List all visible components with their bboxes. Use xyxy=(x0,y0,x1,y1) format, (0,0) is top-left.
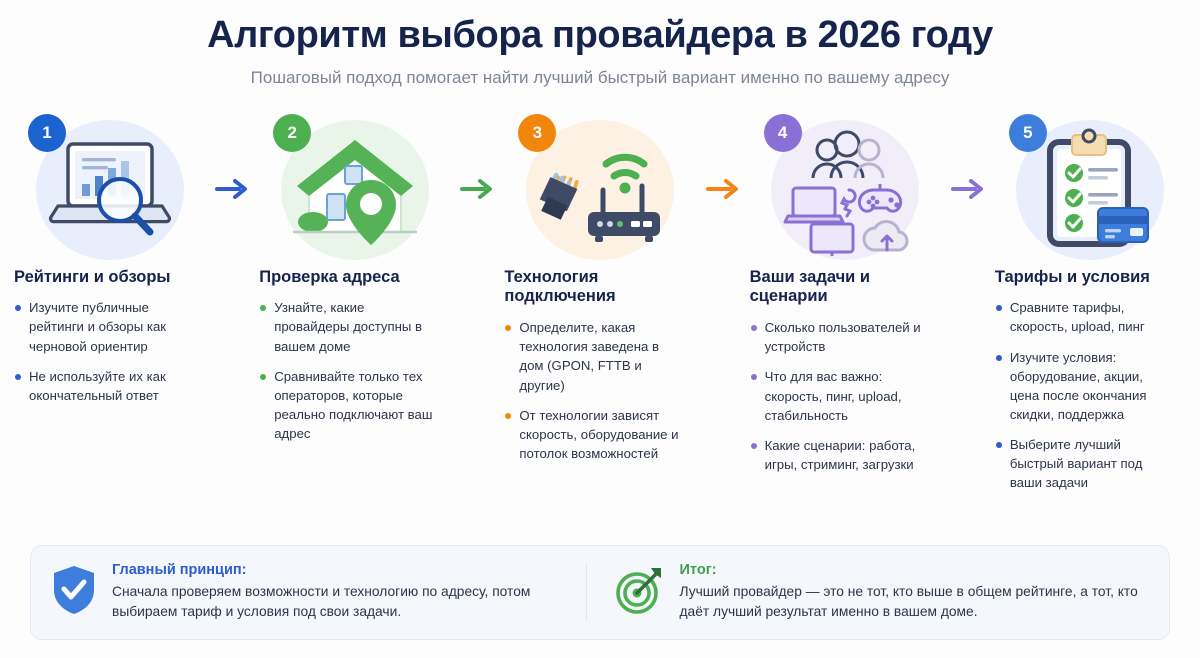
column-spacer xyxy=(941,268,995,504)
step-1-number: 1 xyxy=(42,123,51,143)
steps-row: 1 xyxy=(0,114,1200,264)
arrow-1-to-2 xyxy=(205,114,259,264)
columns-row: Рейтинги и обзоры Изучите публичные рейт… xyxy=(0,268,1200,504)
result-cell: Итог: Лучший провайдер — это не тот, кто… xyxy=(587,562,1150,623)
clipboard-checklist-card-icon xyxy=(1028,128,1152,259)
principle-label: Главный принцип: xyxy=(112,562,586,578)
column-4: Ваши задачи и сценарии Сколько пользоват… xyxy=(750,268,941,504)
step-5-badge: 5 xyxy=(1009,114,1047,152)
laptop-chart-magnifier-icon xyxy=(44,128,176,253)
step-5: 5 xyxy=(995,114,1186,264)
step-3: 3 xyxy=(504,114,695,264)
step-1: 1 xyxy=(14,114,205,264)
summary-panel: Главный принцип: Сначала проверяем возмо… xyxy=(30,545,1170,640)
column-3-bullets: Определите, какая технология заведена в … xyxy=(504,318,681,463)
step-2-number: 2 xyxy=(287,123,296,143)
list-item: Что для вас важно: скорость, пинг, uploa… xyxy=(750,367,927,424)
principle-cell: Главный принцип: Сначала проверяем возмо… xyxy=(51,562,586,623)
column-5-title: Тарифы и условия xyxy=(995,268,1172,288)
column-spacer xyxy=(450,268,504,504)
step-2-badge: 2 xyxy=(273,114,311,152)
list-item: Изучите публичные рейтинги и обзоры как … xyxy=(14,298,191,355)
list-item: Не используйте их как окончательный отве… xyxy=(14,367,191,405)
step-2: 2 xyxy=(259,114,450,264)
arrow-4-to-5 xyxy=(941,114,995,264)
fiber-cable-router-wifi-icon xyxy=(530,128,670,257)
column-1-title: Рейтинги и обзоры xyxy=(14,268,191,288)
list-item: Сравните тарифы, скорость, upload, пинг xyxy=(995,298,1172,336)
list-item: Определите, какая технология заведена в … xyxy=(504,318,681,395)
shield-check-icon xyxy=(51,562,97,621)
column-3: Технология подключения Определите, какая… xyxy=(504,268,695,504)
list-item: Какие сценарии: работа, игры, стриминг, … xyxy=(750,436,927,474)
column-4-title: Ваши задачи и сценарии xyxy=(750,268,927,308)
column-5: Тарифы и условия Сравните тарифы, скорос… xyxy=(995,268,1186,504)
step-4-number: 4 xyxy=(778,123,787,143)
principle-text: Сначала проверяем возможности и технолог… xyxy=(112,582,586,623)
column-2: Проверка адреса Узнайте, какие провайдер… xyxy=(259,268,450,504)
result-label: Итог: xyxy=(680,562,1150,578)
arrow-3-to-4 xyxy=(696,114,750,264)
target-arrow-icon xyxy=(615,562,665,621)
column-2-bullets: Узнайте, какие провайдеры доступны в ваш… xyxy=(259,298,436,443)
list-item: Сравнивайте только тех операторов, котор… xyxy=(259,367,436,444)
arrow-2-to-3 xyxy=(450,114,504,264)
users-devices-icon xyxy=(779,128,911,261)
step-3-number: 3 xyxy=(533,123,542,143)
column-1: Рейтинги и обзоры Изучите публичные рейт… xyxy=(14,268,205,504)
column-spacer xyxy=(205,268,259,504)
list-item: Узнайте, какие провайдеры доступны в ваш… xyxy=(259,298,436,355)
column-2-title: Проверка адреса xyxy=(259,268,436,288)
column-3-title: Технология подключения xyxy=(504,268,681,308)
column-1-bullets: Изучите публичные рейтинги и обзоры как … xyxy=(14,298,191,405)
house-location-pin-icon xyxy=(289,128,421,257)
step-1-badge: 1 xyxy=(28,114,66,152)
step-5-number: 5 xyxy=(1023,123,1032,143)
column-4-bullets: Сколько пользователей и устройств Что дл… xyxy=(750,318,927,474)
step-4: 4 xyxy=(750,114,941,264)
page-title: Алгоритм выбора провайдера в 2026 году xyxy=(0,14,1200,57)
list-item: Сколько пользователей и устройств xyxy=(750,318,927,356)
page-subtitle: Пошаговый подход помогает найти лучший б… xyxy=(0,68,1200,88)
step-3-badge: 3 xyxy=(518,114,556,152)
column-5-bullets: Сравните тарифы, скорость, upload, пинг … xyxy=(995,298,1172,492)
step-4-badge: 4 xyxy=(764,114,802,152)
column-spacer xyxy=(696,268,750,504)
header: Алгоритм выбора провайдера в 2026 году П… xyxy=(0,0,1200,88)
list-item: От технологии зависят скорость, оборудов… xyxy=(504,406,681,463)
list-item: Изучите условия: оборудование, акции, це… xyxy=(995,348,1172,425)
list-item: Выберите лучший быстрый вариант под ваши… xyxy=(995,435,1172,492)
result-text: Лучший провайдер — это не тот, кто выше … xyxy=(680,582,1150,623)
infographic-page: Алгоритм выбора провайдера в 2026 году П… xyxy=(0,0,1200,658)
